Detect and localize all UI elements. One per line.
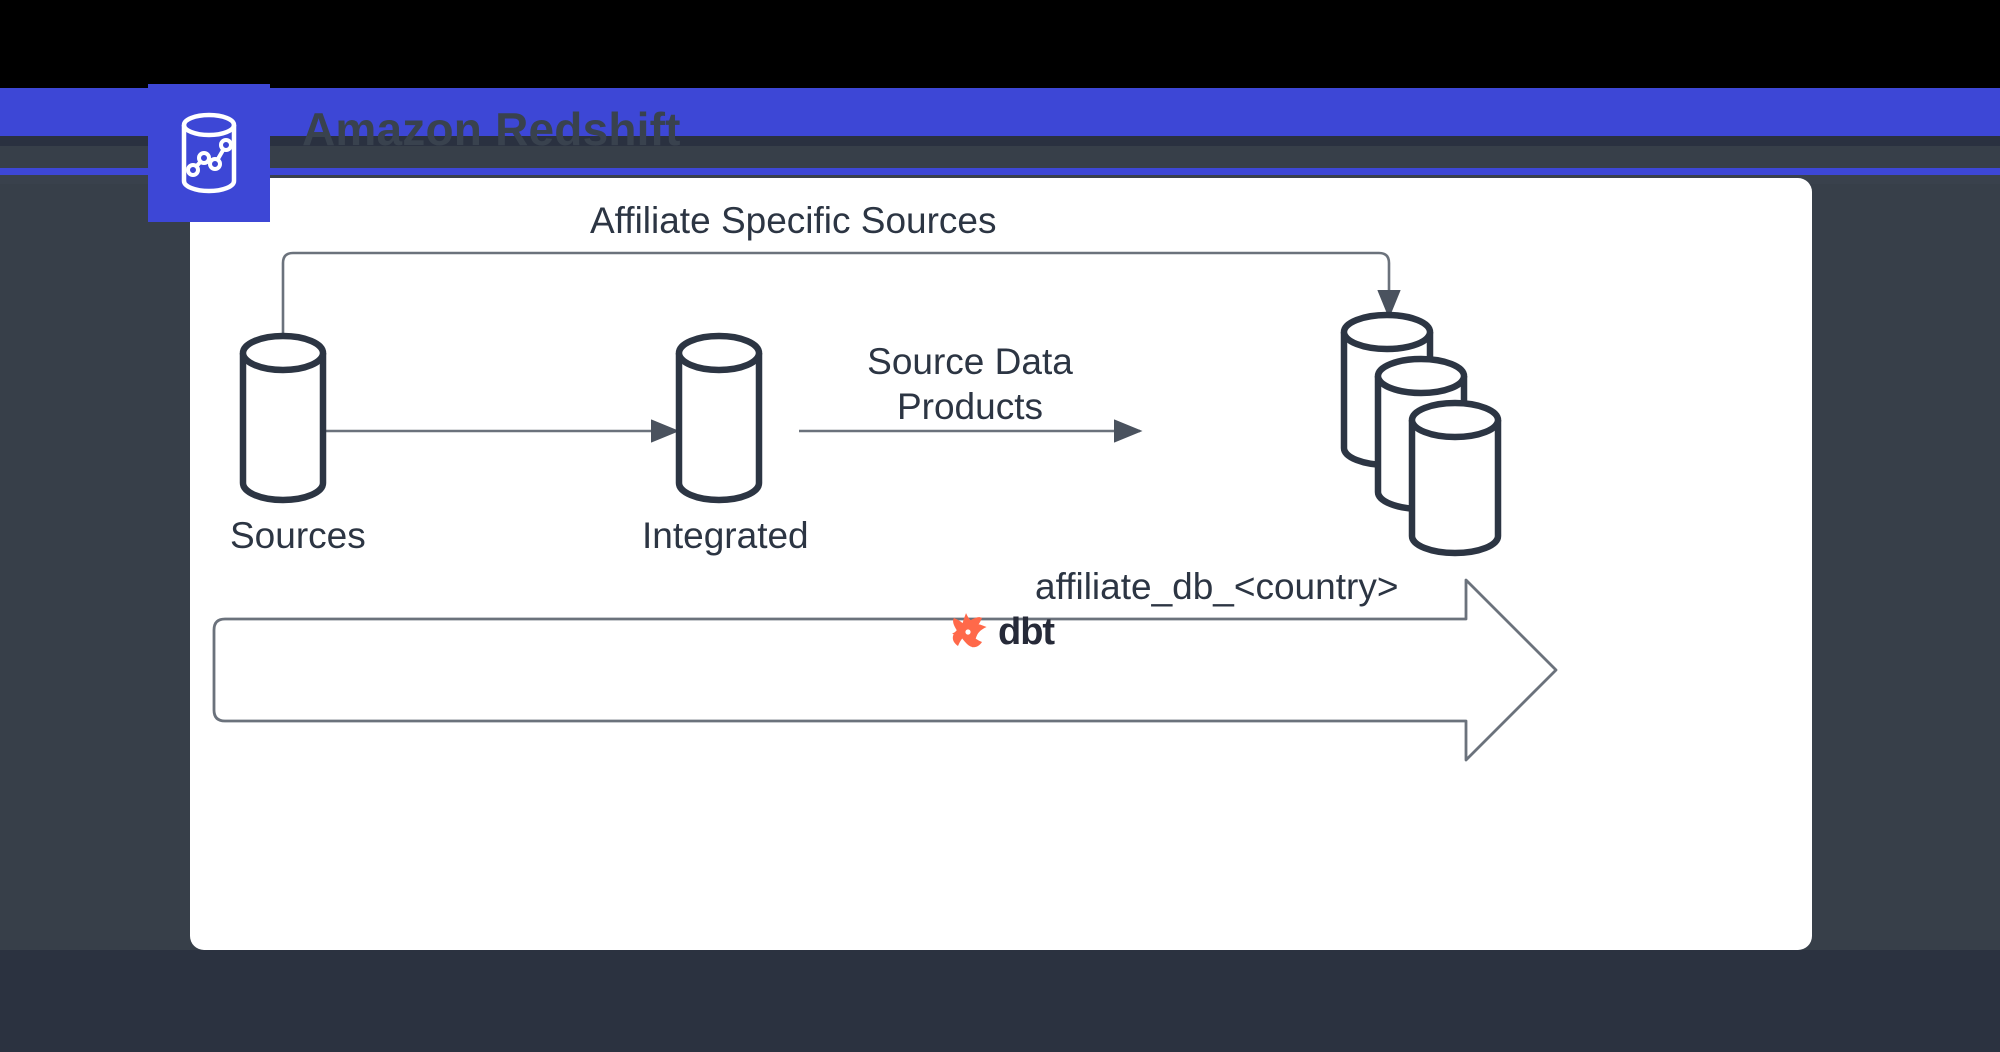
accent-band-top — [0, 88, 2000, 136]
edge-label-source-data-line2: Products — [830, 386, 1110, 428]
diagram-canvas: Affiliate Specific Sources Source Data P… — [190, 178, 1812, 950]
node-label-integrated: Integrated — [642, 515, 809, 557]
cylinder-affiliate-front — [1412, 403, 1498, 553]
cylinder-integrated — [679, 336, 759, 500]
dbt-x-icon — [946, 610, 990, 654]
node-label-sources: Sources — [230, 515, 366, 557]
screenshot-root: Amazon Redshift — [0, 0, 2000, 1052]
redshift-badge — [148, 84, 270, 222]
cylinder-stack-affiliate — [1344, 315, 1498, 553]
diagram-graphics — [190, 178, 1812, 950]
background-lower — [0, 950, 2000, 1052]
edge-label-affiliate-specific-sources: Affiliate Specific Sources — [590, 200, 990, 242]
divider-rule-upper — [0, 136, 2000, 146]
accent-rule — [0, 168, 2000, 175]
dbt-logo: dbt — [946, 610, 1054, 654]
node-label-affiliate-db: affiliate_db_<country> — [1035, 566, 1398, 608]
edge-label-source-data-line1: Source Data — [830, 341, 1110, 383]
redshift-database-icon — [177, 112, 241, 194]
diagram-card: Affiliate Specific Sources Source Data P… — [190, 178, 1812, 950]
dbt-wordmark: dbt — [998, 613, 1054, 651]
cylinder-sources — [243, 336, 323, 500]
page-title: Amazon Redshift — [302, 102, 681, 156]
